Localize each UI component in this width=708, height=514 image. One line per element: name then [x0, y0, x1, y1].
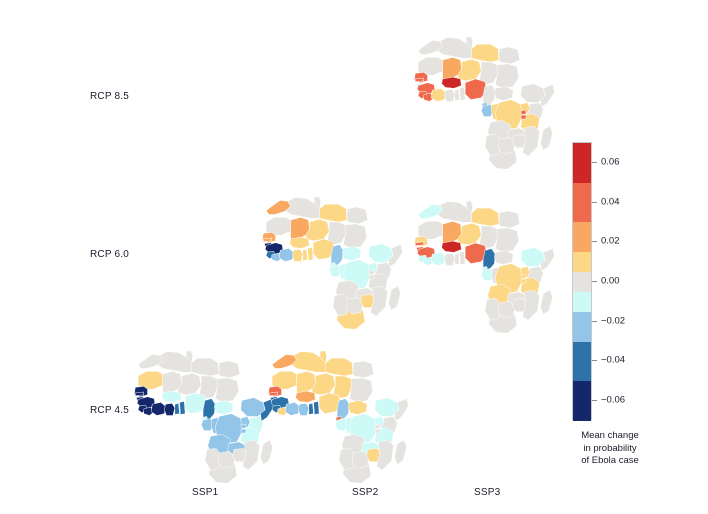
country-lby: [472, 208, 499, 226]
country-ner: [306, 219, 330, 241]
colorbar-band: [573, 342, 591, 382]
country-egy: [219, 361, 240, 378]
country-caf: [494, 250, 513, 264]
scenario-grid-figure: RCP 8.5 RCP 6.0 RCP 4.5 SSP1 SSP2 SSP3 M…: [0, 0, 708, 514]
country-bdi: [369, 275, 375, 280]
country-lby: [192, 358, 219, 376]
country-ben: [460, 87, 466, 100]
colorbar-tick-label: −0.04: [601, 355, 625, 366]
country-gha: [164, 403, 174, 415]
africa-map: [258, 322, 418, 494]
country-mdg: [394, 440, 406, 464]
country-ner: [178, 373, 202, 395]
colorbar-band: [573, 292, 591, 312]
country-gha: [298, 403, 308, 415]
country-civ: [151, 402, 165, 415]
map-panel-rcp85-ssp3: [404, 8, 564, 180]
country-tgo: [309, 403, 314, 414]
africa-map: [252, 168, 412, 340]
country-tgo: [303, 249, 308, 260]
country-gmb: [269, 392, 277, 396]
country-ben: [180, 401, 186, 414]
country-bfa: [290, 237, 310, 248]
colorbar-tick-label: −0.02: [601, 315, 625, 326]
country-sdn: [495, 228, 519, 252]
country-civ: [431, 252, 445, 265]
country-lby: [320, 204, 347, 222]
map-panel-rcp60-ssp2: [252, 168, 412, 340]
country-caf: [494, 86, 513, 100]
country-rwa: [369, 270, 375, 275]
colorbar-caption: Mean change in probability of Ebola case: [554, 430, 666, 468]
colorbar-tick: [592, 202, 597, 203]
country-caf: [342, 246, 361, 260]
country-ben: [314, 401, 320, 414]
country-tgo: [455, 253, 460, 264]
colorbar-band: [573, 183, 591, 223]
country-civ: [285, 402, 299, 415]
col-label-ssp3: SSP3: [474, 487, 500, 498]
country-gha: [444, 89, 454, 101]
country-sdn: [343, 224, 367, 248]
colorbar-band: [573, 222, 591, 252]
country-lby: [326, 358, 353, 376]
country-ner: [458, 59, 482, 81]
country-tgo: [455, 89, 460, 100]
colorbar-tick: [592, 241, 597, 242]
country-gmb: [135, 392, 143, 396]
country-civ: [279, 248, 293, 261]
country-bfa: [442, 241, 462, 252]
country-gmb: [263, 238, 271, 242]
africa-map: [404, 172, 564, 344]
colorbar-tick: [592, 281, 597, 282]
country-bfa: [296, 391, 316, 402]
country-mdg: [540, 126, 552, 150]
colorbar-band: [573, 381, 591, 421]
country-rwa: [521, 110, 527, 115]
country-gha: [292, 249, 302, 261]
map-panel-rcp45-ssp2: [258, 322, 418, 494]
country-mar: [272, 354, 296, 368]
country-gmb: [415, 78, 423, 82]
colorbar-band: [573, 252, 591, 272]
country-sdn: [495, 64, 519, 88]
colorbar-tick-label: 0.02: [601, 236, 620, 247]
colorbar-tick: [592, 162, 597, 163]
country-lby: [472, 44, 499, 62]
country-mar: [138, 354, 162, 368]
country-ner: [312, 373, 336, 395]
colorbar-tick-label: −0.06: [601, 395, 625, 406]
country-bfa: [162, 391, 182, 402]
colorbar-caption-line2: in probability: [554, 443, 666, 456]
colorbar-tick-label: 0.04: [601, 196, 620, 207]
country-caf: [348, 400, 367, 414]
colorbar-tick: [592, 360, 597, 361]
country-ner: [458, 223, 482, 245]
africa-map: [404, 8, 564, 180]
country-egy: [499, 47, 520, 64]
row-label-rcp85: RCP 8.5: [90, 91, 129, 102]
country-rwa: [241, 424, 247, 429]
colorbar: Mean change in probability of Ebola case…: [572, 142, 692, 432]
colorbar-tick-label: 0.00: [601, 276, 620, 287]
colorbar-band: [573, 143, 591, 183]
row-label-rcp60: RCP 6.0: [90, 249, 129, 260]
country-egy: [353, 361, 374, 378]
country-bdi: [241, 429, 247, 434]
map-panel-rcp60-ssp3: [404, 172, 564, 344]
colorbar-caption-line1: Mean change: [554, 430, 666, 443]
country-tgo: [175, 403, 180, 414]
country-bdi: [521, 279, 527, 284]
country-sdn: [349, 378, 373, 402]
colorbar-band: [573, 312, 591, 342]
country-mar: [266, 200, 290, 214]
country-bdi: [521, 115, 527, 120]
country-rwa: [375, 424, 381, 429]
country-mdg: [540, 290, 552, 314]
country-mar: [418, 40, 442, 54]
country-egy: [347, 207, 368, 224]
country-sdn: [215, 378, 239, 402]
colorbar-gradient: [572, 142, 592, 420]
country-ben: [460, 251, 466, 264]
colorbar-band: [573, 272, 591, 292]
country-gmb: [415, 242, 423, 246]
country-civ: [431, 88, 445, 101]
country-bfa: [442, 77, 462, 88]
country-mdg: [388, 286, 400, 310]
colorbar-tick: [592, 400, 597, 401]
colorbar-tick-label: 0.06: [601, 156, 620, 167]
country-gha: [444, 253, 454, 265]
colorbar-tick: [592, 321, 597, 322]
country-bdi: [375, 429, 381, 434]
country-ben: [308, 247, 314, 260]
country-egy: [499, 211, 520, 228]
country-caf: [214, 400, 233, 414]
country-rwa: [521, 274, 527, 279]
colorbar-caption-line3: of Ebola case: [554, 455, 666, 468]
country-mar: [418, 204, 442, 218]
